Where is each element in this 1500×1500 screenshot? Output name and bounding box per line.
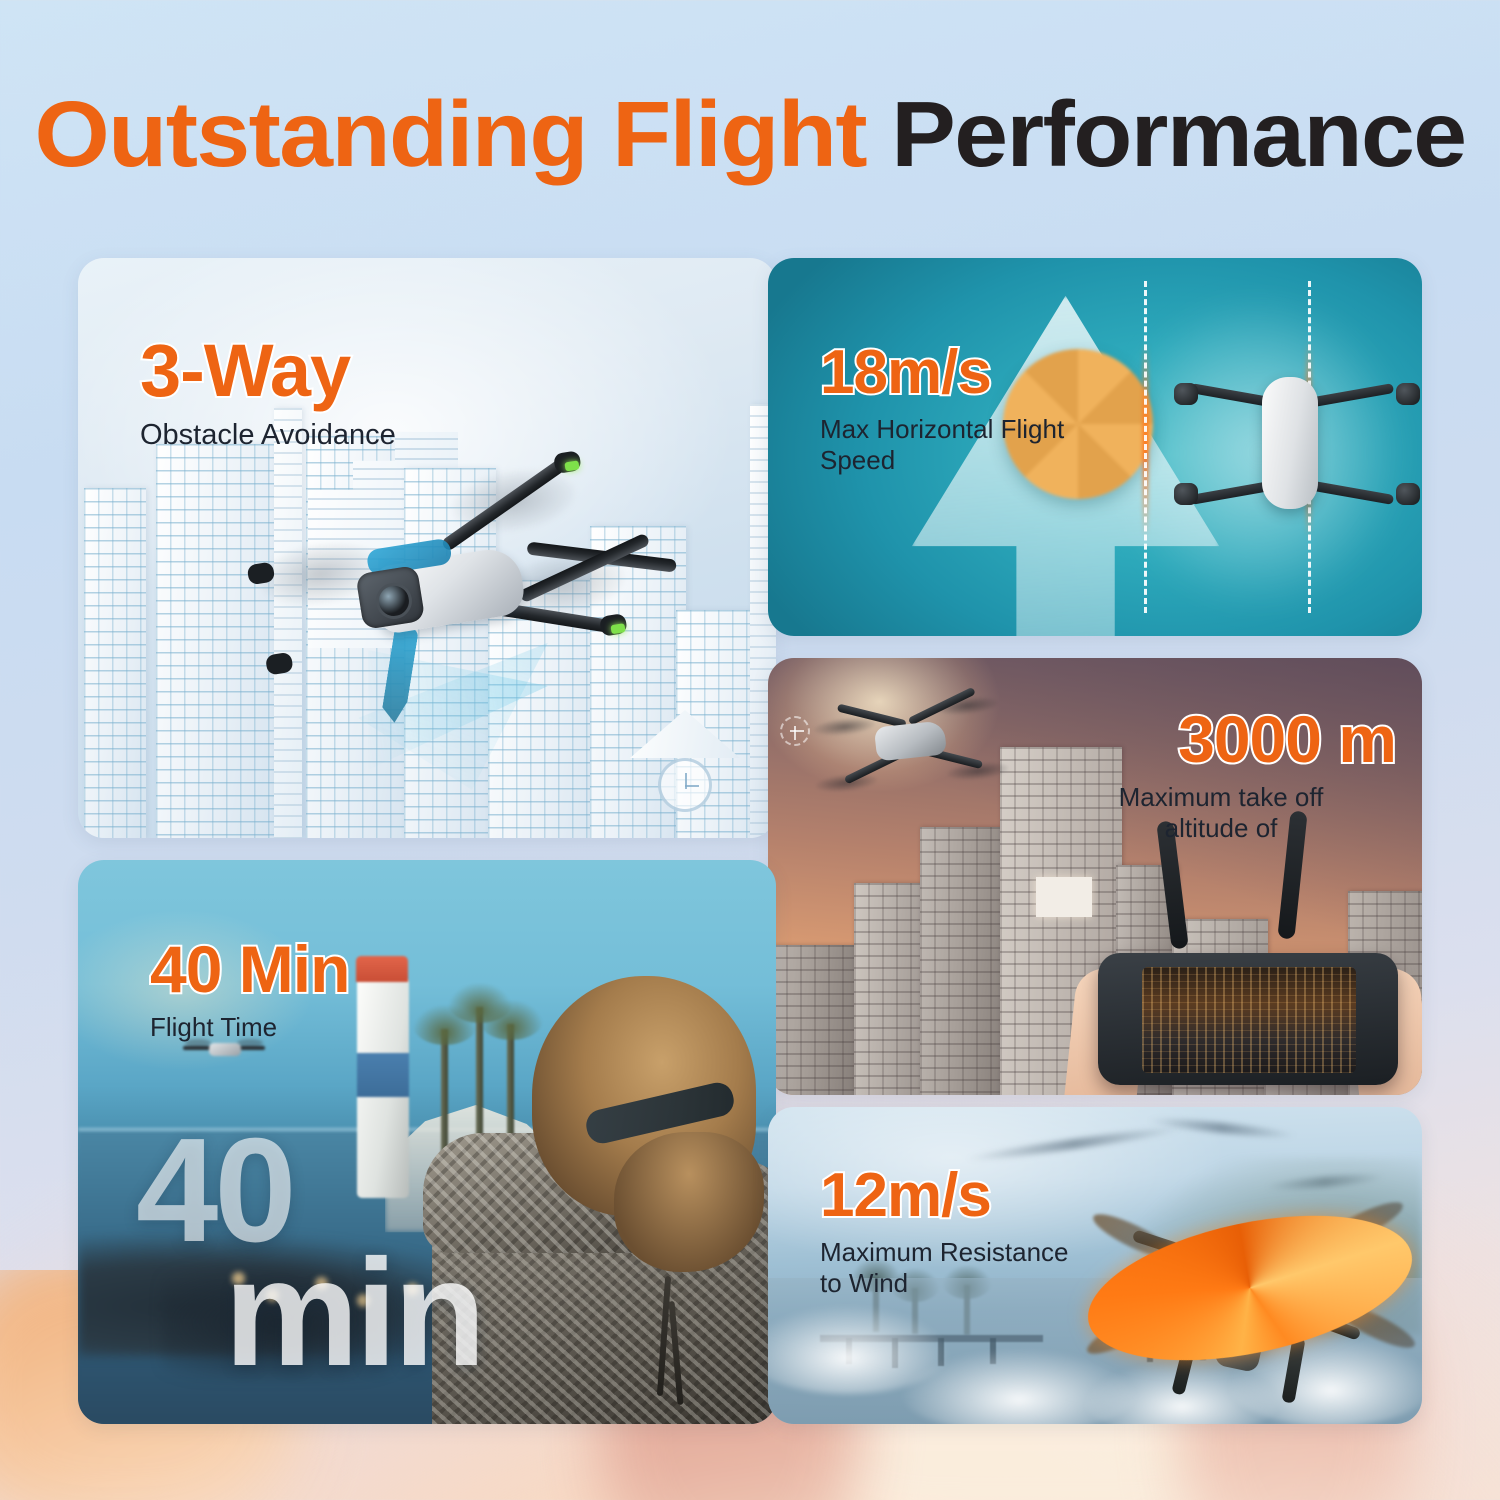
stat-caption-altitude-line2: altitude of — [1046, 813, 1396, 844]
stat-value-altitude: 3000 m — [1046, 706, 1396, 772]
drone-top-view — [1134, 371, 1422, 521]
motor-hub — [1396, 383, 1420, 405]
card-text-obstacle: 3-Way Obstacle Avoidance — [140, 334, 396, 452]
status-led — [610, 623, 625, 634]
drone-in-sky — [807, 686, 1012, 806]
stat-caption-speed-line1: Max Horizontal Flight — [820, 414, 1064, 445]
drone-in-wind — [1095, 1189, 1422, 1399]
building — [768, 945, 858, 1095]
stat-caption-wind: Maximum Resistance to Wind — [820, 1237, 1069, 1298]
feature-grid: 3-Way Obstacle Avoidance — [78, 258, 1422, 1424]
person-watching — [383, 950, 776, 1424]
billboard-sign — [1036, 877, 1092, 917]
stat-caption-altitude-line1: Maximum take off — [1046, 782, 1396, 813]
controller-screen — [1142, 967, 1356, 1073]
bokeh-light — [232, 1272, 245, 1285]
motor-hub — [1174, 383, 1198, 405]
building — [920, 827, 1006, 1095]
feature-card-flight-time[interactable]: 40 min 40 Min Flight Time — [78, 860, 776, 1424]
feature-card-max-altitude[interactable]: 3000 m Maximum take off altitude of — [768, 658, 1422, 1095]
motor-hub — [1174, 483, 1198, 505]
card-text-flight: 40 Min Flight Time — [150, 936, 349, 1043]
building — [84, 488, 146, 838]
landing-gear — [380, 626, 419, 725]
stat-caption-wind-line1: Maximum Resistance — [820, 1237, 1069, 1268]
feature-card-wind-resistance[interactable]: 12m/s Maximum Resistance to Wind — [768, 1107, 1422, 1424]
landing-leg — [1281, 1337, 1305, 1404]
stat-caption-speed-line2: Speed — [820, 445, 1064, 476]
stat-value-wind: 12m/s — [820, 1165, 1069, 1227]
drone-body — [209, 1043, 241, 1056]
card-text-altitude: 3000 m Maximum take off altitude of — [1046, 706, 1396, 843]
page-title-dark: Performance — [891, 82, 1465, 186]
feature-card-max-speed[interactable]: 18m/s Max Horizontal Flight Speed — [768, 258, 1422, 636]
page-title: Outstanding Flight Performance — [0, 86, 1500, 183]
motor-hub — [1396, 483, 1420, 505]
building — [854, 883, 926, 1095]
stat-caption-obstacle: Obstacle Avoidance — [140, 418, 396, 452]
stat-caption-altitude: Maximum take off altitude of — [1046, 782, 1396, 843]
stat-value-flight: 40 Min — [150, 936, 349, 1002]
page-title-accent: Outstanding Flight — [34, 82, 865, 186]
stat-caption-flight: Flight Time — [150, 1012, 349, 1043]
stat-value-obstacle: 3-Way — [140, 334, 396, 408]
stat-caption-speed: Max Horizontal Flight Speed — [820, 414, 1064, 475]
remote-controller — [1098, 921, 1398, 1091]
drone-camera-gimbal — [355, 565, 425, 630]
motor-hub — [265, 652, 294, 676]
focus-crosshair-icon — [780, 716, 810, 746]
stat-caption-wind-line2: to Wind — [820, 1268, 1069, 1299]
status-led — [564, 460, 579, 471]
card-text-wind: 12m/s Maximum Resistance to Wind — [820, 1165, 1069, 1298]
drone-body — [1262, 377, 1318, 509]
clock-tower-face — [658, 758, 712, 812]
card-text-speed: 18m/s Max Horizontal Flight Speed — [820, 342, 1064, 475]
feature-card-obstacle-avoidance[interactable]: 3-Way Obstacle Avoidance — [78, 258, 776, 838]
stat-value-speed: 18m/s — [820, 342, 1064, 404]
